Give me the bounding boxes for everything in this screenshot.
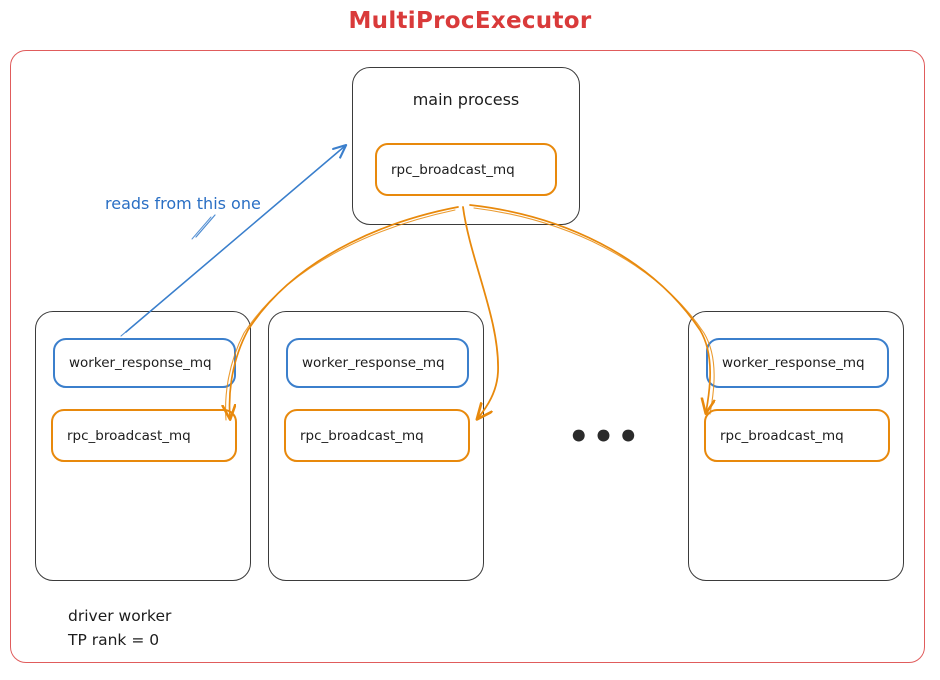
worker-box-1: worker_response_mq rpc_broadcast_mq Work… <box>268 311 484 581</box>
main-process-box: main process rpc_broadcast_mq <box>352 67 580 225</box>
worker-box-0: worker_response_mq rpc_broadcast_mq Work… <box>35 311 251 581</box>
main-rpc-broadcast-mq-box: rpc_broadcast_mq <box>375 143 557 196</box>
worker-1-response-mq-box: worker_response_mq <box>286 338 469 388</box>
diagram-title: MultiProcExecutor <box>0 8 940 34</box>
driver-worker-note: driver worker TP rank = 0 <box>68 604 171 652</box>
worker-7-response-mq-box: worker_response_mq <box>706 338 889 388</box>
worker-1-rpc-broadcast-mq-label: rpc_broadcast_mq <box>300 428 424 444</box>
worker-1-response-mq-label: worker_response_mq <box>302 355 445 371</box>
worker-0-rpc-broadcast-mq-label: rpc_broadcast_mq <box>67 428 191 444</box>
worker-0-rpc-broadcast-mq-box: rpc_broadcast_mq <box>51 409 237 462</box>
workers-ellipsis: ••• <box>545 420 665 454</box>
reads-from-this-one-annotation: reads from this one <box>105 194 261 213</box>
worker-0-response-mq-label: worker_response_mq <box>69 355 212 371</box>
worker-1-rpc-broadcast-mq-box: rpc_broadcast_mq <box>284 409 470 462</box>
diagram-canvas: MultiProcExecutor main process rpc_broad… <box>0 0 940 680</box>
worker-0-response-mq-box: worker_response_mq <box>53 338 236 388</box>
main-rpc-broadcast-mq-label: rpc_broadcast_mq <box>391 162 515 178</box>
worker-7-rpc-broadcast-mq-label: rpc_broadcast_mq <box>720 428 844 444</box>
worker-box-7: worker_response_mq rpc_broadcast_mq Work… <box>688 311 904 581</box>
main-process-label: main process <box>353 90 579 109</box>
worker-7-rpc-broadcast-mq-box: rpc_broadcast_mq <box>704 409 890 462</box>
worker-7-response-mq-label: worker_response_mq <box>722 355 865 371</box>
